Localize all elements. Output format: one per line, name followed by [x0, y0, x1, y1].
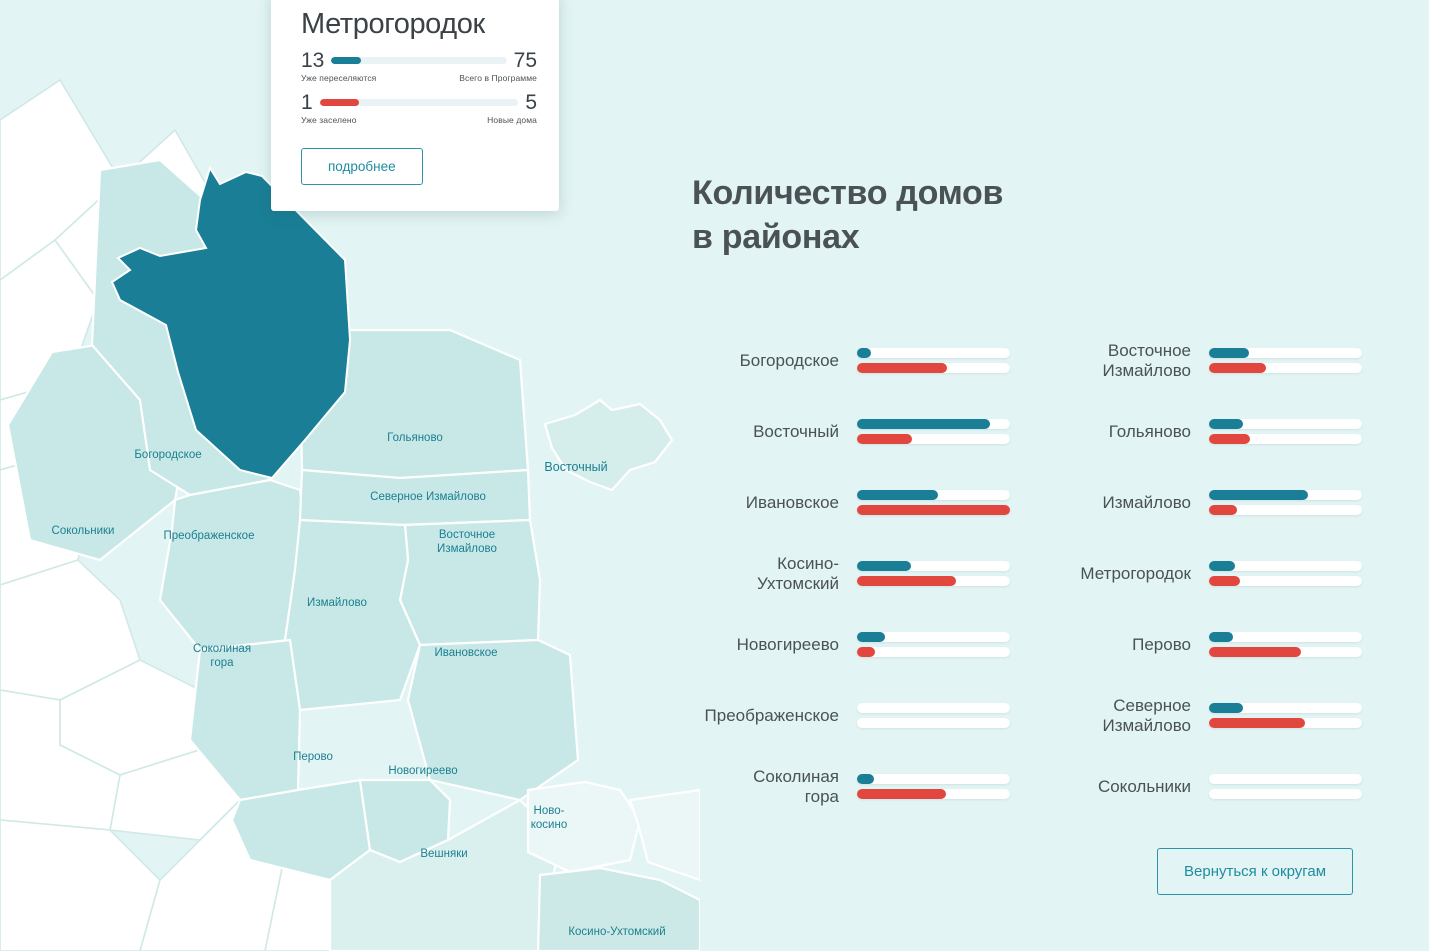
district-bar-row[interactable]: Новогиреево [692, 609, 1010, 680]
district-bar-row[interactable]: Соколиная гора [692, 751, 1010, 822]
tooltip-stat-relocating: 13 75 Уже переселяются Всего в Программе [301, 50, 537, 83]
district-bar-track-settled [1209, 434, 1362, 444]
district-bar-row[interactable]: Сокольники [1010, 751, 1362, 822]
district-bar-label: Новогиреево [692, 635, 857, 654]
district-bar-fill-settled [857, 789, 946, 799]
district-bar-label: Измайлово [1010, 493, 1209, 512]
map-district-severnoye-izmaylovo[interactable] [300, 470, 530, 525]
tooltip-stat-left-value: 1 [301, 92, 313, 113]
district-bar-fill-settled [857, 434, 912, 444]
district-bar-fill-settled [1209, 576, 1240, 586]
district-bar-track-settled [1209, 647, 1362, 657]
tooltip-stat-left-caption: Уже заселено [301, 115, 357, 125]
district-bar-tracks [1209, 490, 1362, 515]
district-bar-fill-relocating [857, 348, 871, 358]
district-bar-tracks [1209, 632, 1362, 657]
district-bar-tracks [857, 774, 1010, 799]
tooltip-details-button[interactable]: подробнее [301, 148, 423, 185]
district-bar-row[interactable]: Преображенское [692, 680, 1010, 751]
district-bar-fill-settled [1209, 363, 1266, 373]
district-bar-fill-settled [857, 647, 875, 657]
tooltip-stat-right-caption: Новые дома [487, 115, 537, 125]
district-bar-label: Северное Измайлово [1010, 696, 1209, 734]
district-bars-grid: БогородскоеВосточное ИзмайловоВосточныйГ… [692, 325, 1392, 822]
district-bar-track-relocating [1209, 774, 1362, 784]
district-bar-row[interactable]: Ивановское [692, 467, 1010, 538]
district-bar-tracks [1209, 561, 1362, 586]
district-bar-tracks [857, 490, 1010, 515]
district-bar-label: Сокольники [1010, 777, 1209, 796]
district-bar-tracks [857, 348, 1010, 373]
district-bar-track-relocating [857, 490, 1010, 500]
district-bar-tracks [857, 632, 1010, 657]
district-bar-label: Преображенское [692, 706, 857, 725]
tooltip-stat-settled: 1 5 Уже заселено Новые дома [301, 92, 537, 125]
district-bar-fill-relocating [857, 419, 990, 429]
district-bar-tracks [857, 419, 1010, 444]
district-bar-track-relocating [1209, 490, 1362, 500]
back-to-okrugs-button[interactable]: Вернуться к округам [1157, 848, 1353, 895]
district-bar-track-relocating [857, 561, 1010, 571]
district-bar-row[interactable]: Богородское [692, 325, 1010, 396]
district-bar-row[interactable]: Восточное Измайлово [1010, 325, 1362, 396]
district-bar-track-settled [857, 505, 1010, 515]
district-bar-track-relocating [857, 703, 1010, 713]
map-district-vostochnoye-izmaylovo[interactable] [400, 520, 540, 645]
district-bar-track-settled [857, 647, 1010, 657]
chart-title: Количество домов в районах [692, 172, 1003, 259]
district-bar-track-relocating [1209, 348, 1362, 358]
tooltip-stat-right-value: 75 [514, 50, 537, 71]
district-bar-track-relocating [857, 774, 1010, 784]
district-bar-row[interactable]: Гольяново [1010, 396, 1362, 467]
district-bar-fill-relocating [1209, 348, 1249, 358]
district-bar-track-settled [1209, 718, 1362, 728]
map-district-izmaylovo[interactable] [285, 520, 420, 710]
district-bar-track-settled [1209, 505, 1362, 515]
district-bar-track-settled [857, 789, 1010, 799]
district-bar-label: Восточное Измайлово [1010, 341, 1209, 379]
district-bar-label: Ивановское [692, 493, 857, 512]
tooltip-stat-left-caption: Уже переселяются [301, 73, 376, 83]
district-bar-label: Косино- Ухтомский [692, 554, 857, 592]
district-bar-track-settled [1209, 363, 1362, 373]
district-bar-label: Восточный [692, 422, 857, 441]
district-bar-row[interactable]: Косино- Ухтомский [692, 538, 1010, 609]
chart-panel: Количество домов в районах БогородскоеВо… [692, 0, 1429, 951]
district-bar-tracks [1209, 774, 1362, 799]
tooltip-stat-right-caption: Всего в Программе [459, 73, 537, 83]
tooltip-stat-right-value: 5 [525, 92, 537, 113]
district-bar-track-relocating [1209, 703, 1362, 713]
district-bar-track-relocating [857, 419, 1010, 429]
district-bar-tracks [857, 703, 1010, 728]
district-bar-fill-relocating [1209, 490, 1308, 500]
district-bar-tracks [1209, 703, 1362, 728]
tooltip-stat-track [320, 99, 519, 106]
tooltip-title: Метрогородок [301, 8, 537, 41]
district-bar-row[interactable]: Измайлово [1010, 467, 1362, 538]
district-bar-row[interactable]: Перово [1010, 609, 1362, 680]
district-bar-fill-relocating [857, 774, 874, 784]
tooltip-stat-fill [320, 99, 360, 106]
district-bar-track-settled [857, 363, 1010, 373]
district-bar-row[interactable]: Восточный [692, 396, 1010, 467]
district-bar-tracks [857, 561, 1010, 586]
district-bar-track-settled [1209, 789, 1362, 799]
tooltip-stat-left-value: 13 [301, 50, 324, 71]
district-bar-track-settled [857, 718, 1010, 728]
district-bar-row[interactable]: Метрогородок [1010, 538, 1362, 609]
district-bar-fill-settled [1209, 718, 1305, 728]
district-bar-track-relocating [1209, 419, 1362, 429]
district-bar-fill-relocating [857, 561, 911, 571]
district-bar-fill-settled [857, 576, 956, 586]
district-bar-fill-relocating [1209, 419, 1243, 429]
district-bar-fill-relocating [857, 632, 885, 642]
district-bar-track-relocating [857, 632, 1010, 642]
district-bar-fill-settled [857, 505, 1010, 515]
district-tooltip-card[interactable]: Метрогородок 13 75 Уже переселяются Всег… [271, 0, 559, 211]
district-bar-fill-relocating [1209, 632, 1233, 642]
district-bar-fill-settled [857, 363, 947, 373]
district-bar-track-relocating [1209, 632, 1362, 642]
district-bar-label: Гольяново [1010, 422, 1209, 441]
district-bar-track-settled [1209, 576, 1362, 586]
district-bar-fill-relocating [1209, 703, 1243, 713]
district-bar-fill-settled [1209, 647, 1301, 657]
district-bar-tracks [1209, 419, 1362, 444]
district-bar-fill-settled [1209, 434, 1250, 444]
district-bar-label: Перово [1010, 635, 1209, 654]
district-bar-fill-settled [1209, 505, 1237, 515]
district-bar-fill-relocating [857, 490, 938, 500]
district-bar-track-settled [857, 576, 1010, 586]
app-root: Богородское Сокольники Преображенское Го… [0, 0, 1429, 951]
tooltip-stat-track [331, 57, 506, 64]
district-bar-track-relocating [1209, 561, 1362, 571]
map-district-ivanovskoye[interactable] [408, 640, 578, 800]
district-bar-tracks [1209, 348, 1362, 373]
district-bar-track-relocating [857, 348, 1010, 358]
district-bar-label: Метрогородок [1010, 564, 1209, 583]
district-bar-row[interactable]: Северное Измайлово [1010, 680, 1362, 751]
district-bar-label: Соколиная гора [692, 767, 857, 805]
district-bar-label: Богородское [692, 351, 857, 370]
district-bar-track-settled [857, 434, 1010, 444]
map-district-novo-kosino[interactable] [528, 782, 640, 872]
district-bar-fill-relocating [1209, 561, 1235, 571]
tooltip-stat-fill [331, 57, 361, 64]
